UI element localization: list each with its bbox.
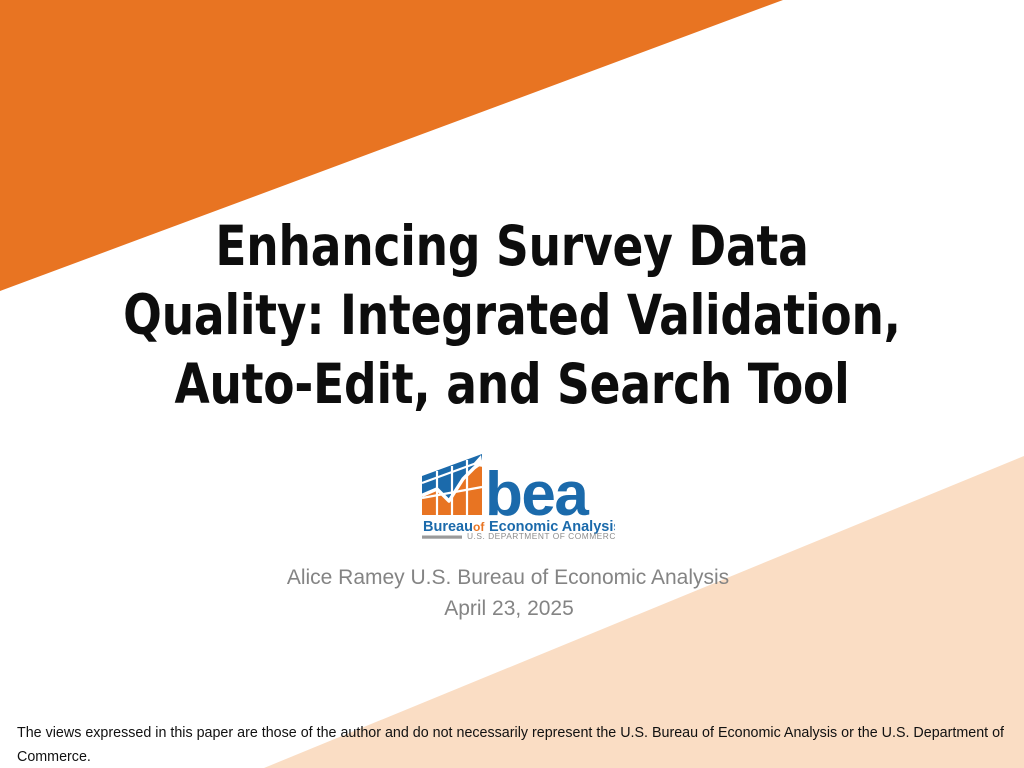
bea-tagline-bureau: Bureau bbox=[423, 519, 473, 535]
disclaimer-text: The views expressed in this paper are th… bbox=[17, 721, 1007, 768]
bea-rule bbox=[422, 536, 462, 539]
title-line-1: Enhancing Survey Data bbox=[41, 212, 983, 281]
slide-subtitle: Alice Ramey U.S. Bureau of Economic Anal… bbox=[0, 562, 1024, 624]
presentation-slide: Enhancing Survey Data Quality: Integrate… bbox=[0, 0, 1024, 768]
title-line-3: Auto-Edit, and Search Tool bbox=[41, 350, 983, 419]
bea-logo: bea Bureau of Economic Analysis U.S. DEP… bbox=[419, 449, 615, 539]
subtitle-date: April 23, 2025 bbox=[0, 593, 1024, 624]
bea-chart-icon bbox=[422, 454, 483, 515]
slide-title: Enhancing Survey Data Quality: Integrate… bbox=[0, 212, 1024, 419]
title-line-2: Quality: Integrated Validation, bbox=[41, 281, 983, 350]
subtitle-author: Alice Ramey U.S. Bureau of Economic Anal… bbox=[0, 562, 1024, 593]
bea-department-text: U.S. DEPARTMENT OF COMMERCE bbox=[467, 531, 615, 539]
